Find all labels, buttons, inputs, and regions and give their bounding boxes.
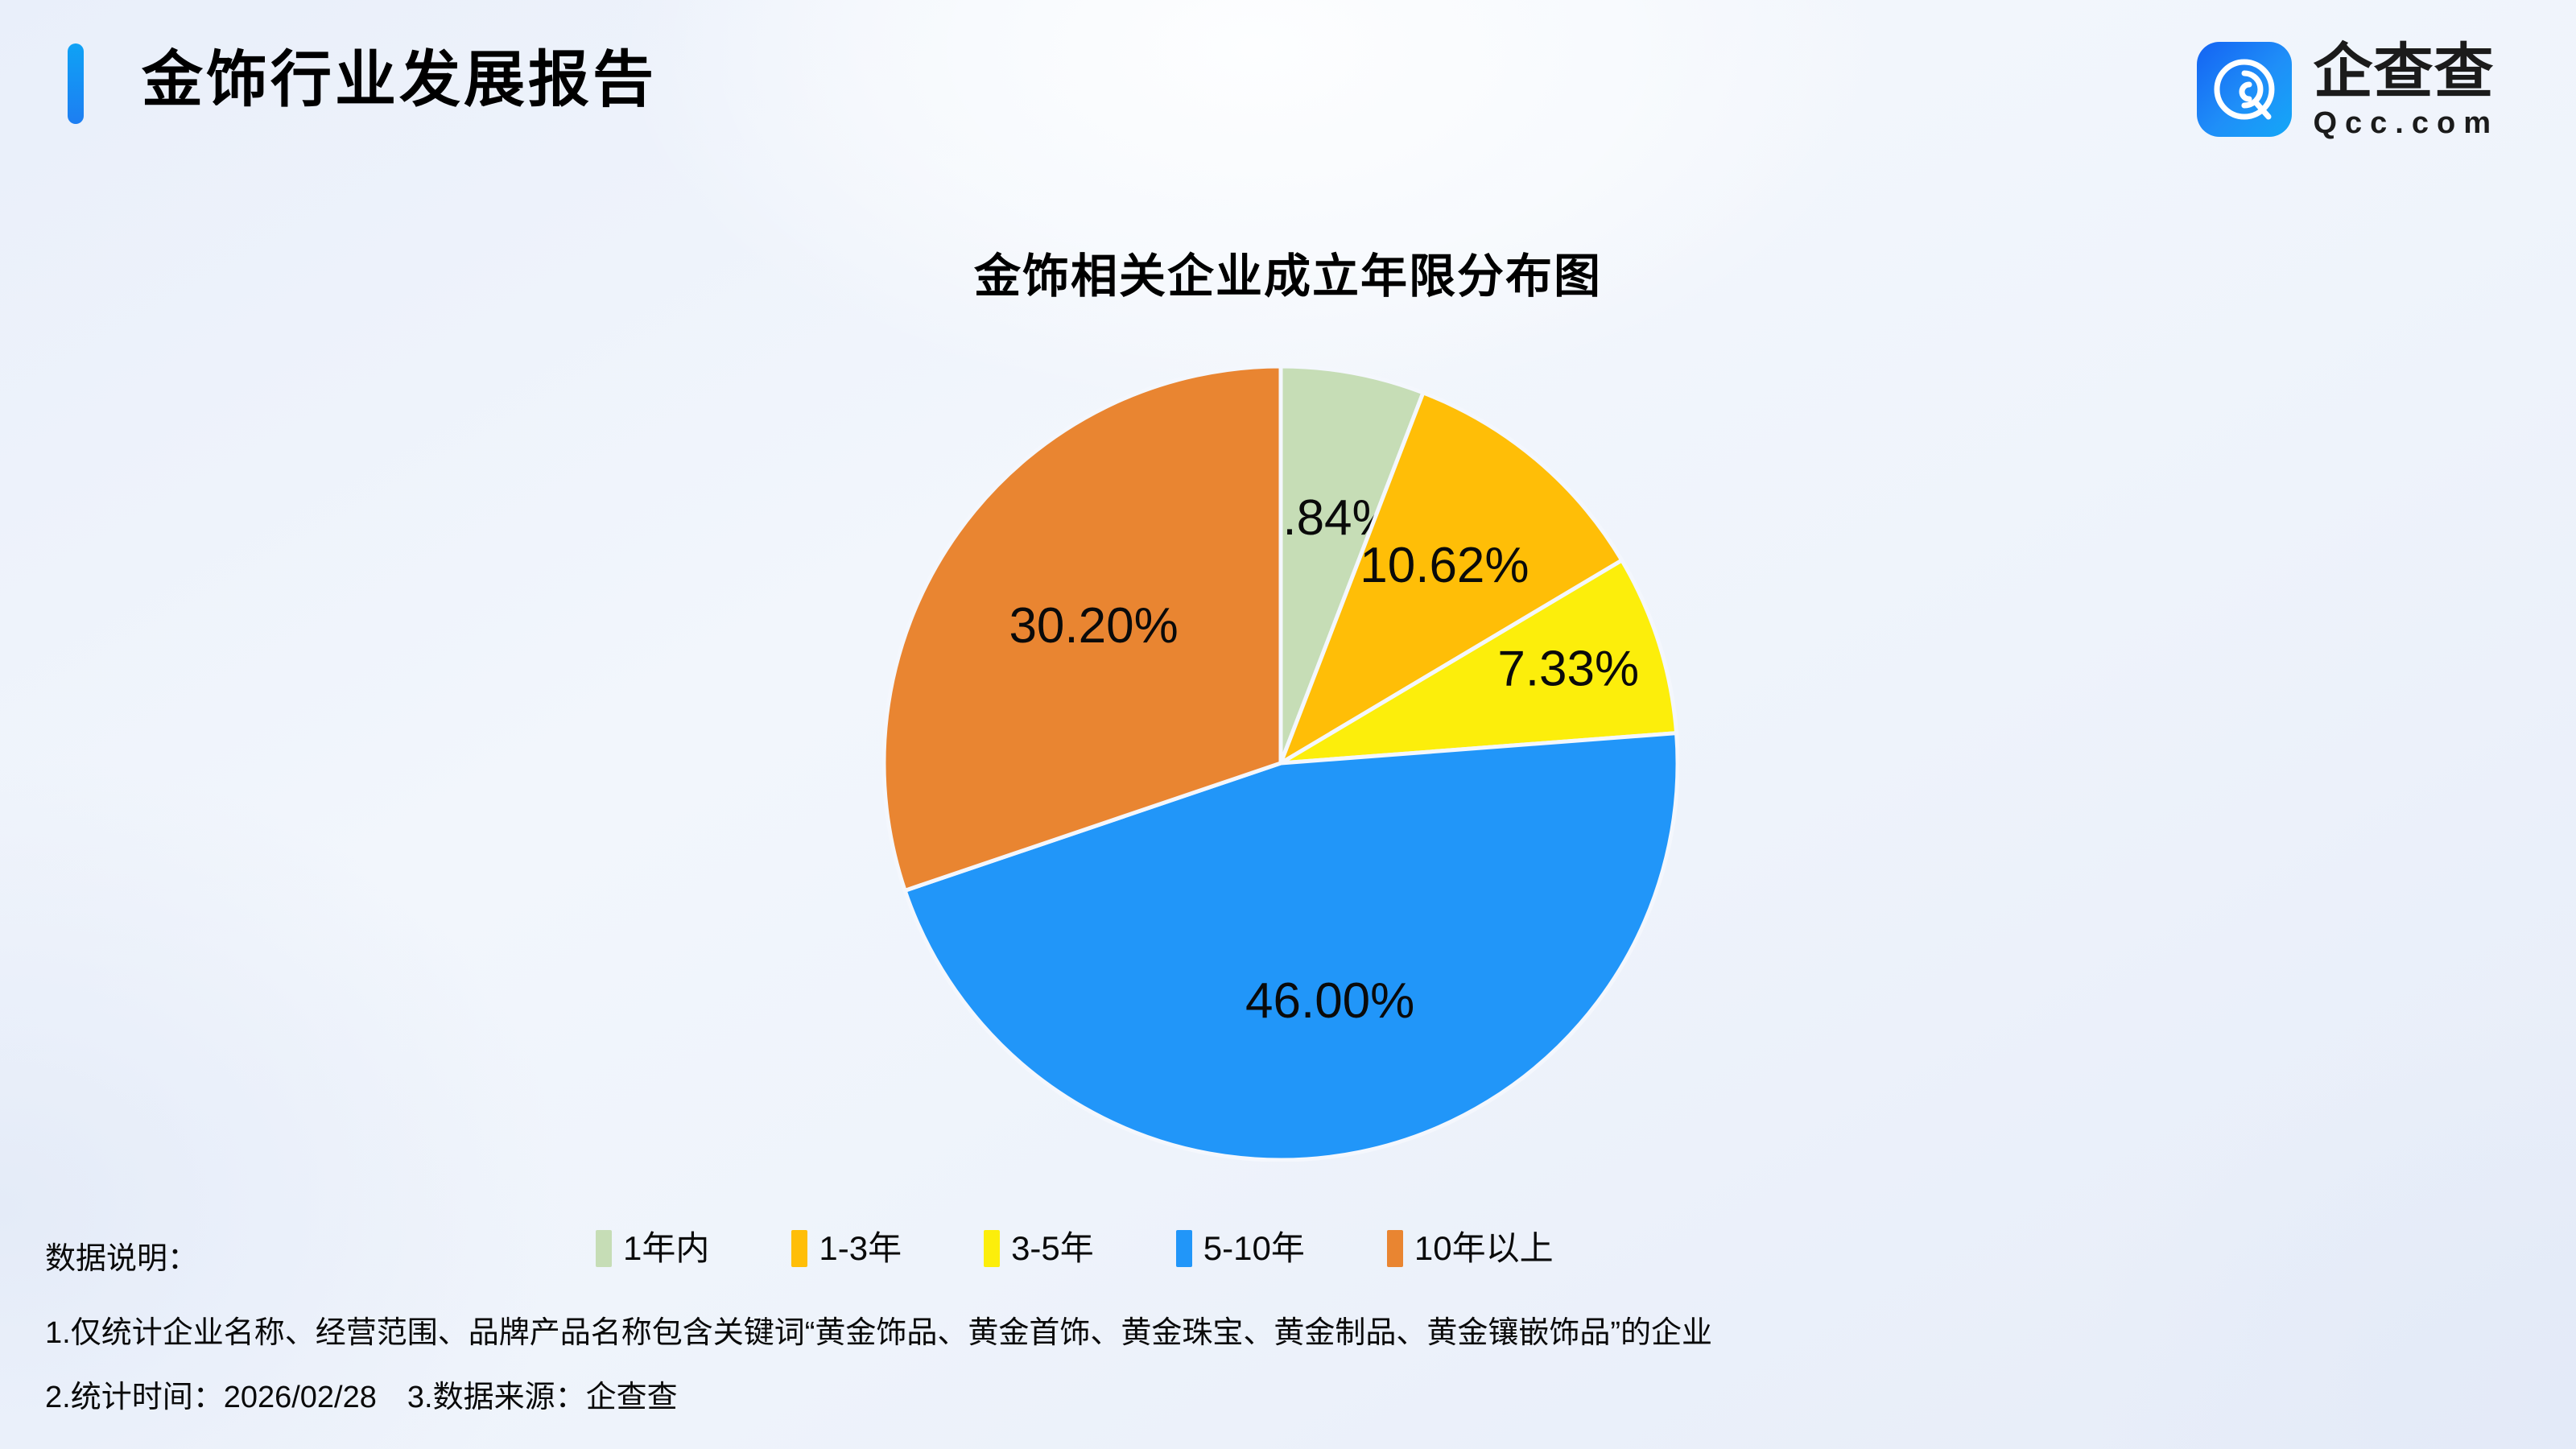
legend-item-label: 1年内 xyxy=(623,1230,709,1267)
legend-swatch-icon xyxy=(984,1230,1000,1267)
pie-chart: 5.84%10.62%7.33%46.00%30.20% xyxy=(882,365,1679,1162)
legend-item[interactable]: 5-10年 xyxy=(1176,1230,1305,1267)
pie-slice-label: 10.62% xyxy=(1360,538,1529,593)
legend-item-label: 3-5年 xyxy=(1011,1230,1094,1267)
logo-wordmark: 企查查 Qcc.com xyxy=(2313,39,2499,140)
legend-item[interactable]: 10年以上 xyxy=(1387,1230,1554,1267)
note-line-1: 1.仅统计企业名称、经营范围、品牌产品名称包含关键词“黄金饰品、黄金首饰、黄金珠… xyxy=(45,1312,1712,1354)
legend-item-label: 10年以上 xyxy=(1414,1230,1554,1267)
legend-swatch-icon xyxy=(791,1230,807,1267)
title-accent-bar xyxy=(68,43,84,124)
report-page: 金饰行业发展报告 企查查 Qcc.com 金饰相关企业成立年限分布图 5.84%… xyxy=(0,0,2576,1449)
logo-brand-cn: 企查查 xyxy=(2313,39,2494,105)
legend-item[interactable]: 3-5年 xyxy=(984,1230,1094,1267)
legend-item[interactable]: 1年内 xyxy=(596,1230,709,1267)
legend-item-label: 1-3年 xyxy=(819,1230,902,1267)
legend-swatch-icon xyxy=(596,1230,612,1267)
pie-slice-label: 46.00% xyxy=(1245,973,1414,1029)
qcc-spiral-q-icon xyxy=(2197,42,2292,137)
legend-swatch-icon xyxy=(1387,1230,1403,1267)
pie-slice-label: 30.20% xyxy=(1009,598,1178,654)
chart-title: 金饰相关企业成立年限分布图 xyxy=(0,238,2576,306)
note-line-2: 2.统计时间：2026/02/28 3.数据来源：企查查 xyxy=(45,1377,678,1418)
chart-legend: 1年内1-3年3-5年5-10年10年以上 xyxy=(596,1230,1554,1267)
legend-item[interactable]: 1-3年 xyxy=(791,1230,902,1267)
logo-brand-en: Qcc.com xyxy=(2313,106,2499,140)
pie-slice-label: 7.33% xyxy=(1497,641,1639,696)
legend-item-label: 5-10年 xyxy=(1203,1230,1305,1267)
legend-swatch-icon xyxy=(1176,1230,1192,1267)
page-title: 金饰行业发展报告 xyxy=(142,35,657,126)
qcc-logo: 企查查 Qcc.com xyxy=(2197,39,2499,140)
notes-heading: 数据说明： xyxy=(45,1233,198,1278)
